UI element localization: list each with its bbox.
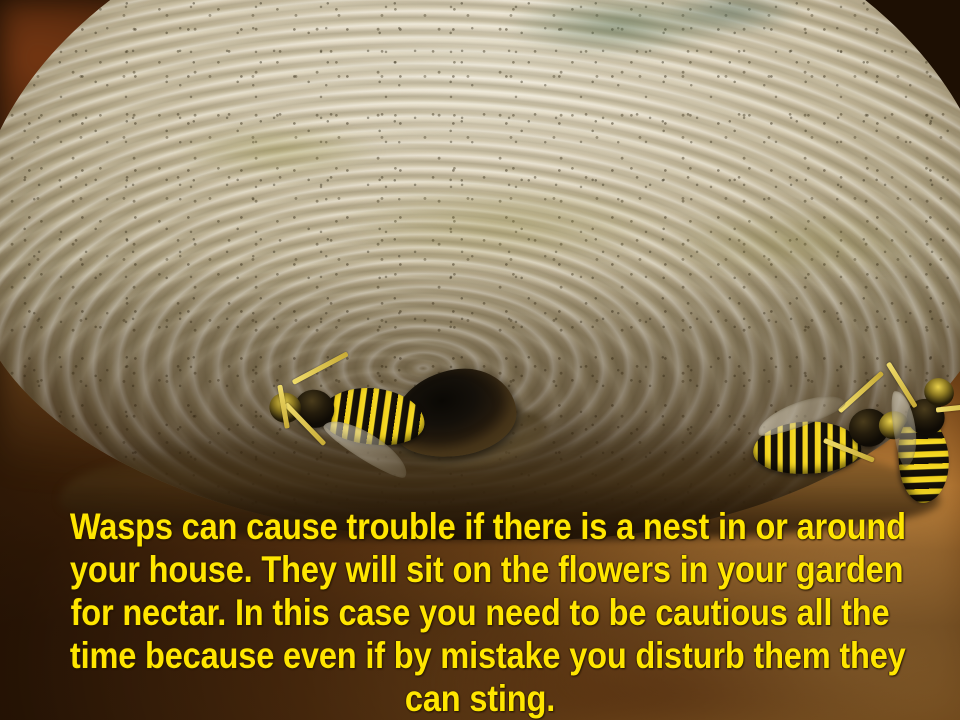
wasp-left bbox=[236, 345, 438, 521]
caption-line-5: can sting. bbox=[70, 677, 890, 720]
caption-block: Wasps can cause trouble if there is a ne… bbox=[0, 505, 960, 720]
wasp-leg bbox=[292, 351, 349, 385]
caption-line-1: Wasps can cause trouble if there is a ne… bbox=[70, 505, 890, 548]
caption-line-4: time because even if by mistake you dist… bbox=[70, 634, 890, 677]
screenshot-canvas: Wasps can cause trouble if there is a ne… bbox=[0, 0, 960, 720]
caption-line-3: for nectar. In this case you need to be … bbox=[70, 591, 890, 634]
caption-line-2: your house. They will sit on the flowers… bbox=[70, 548, 890, 591]
